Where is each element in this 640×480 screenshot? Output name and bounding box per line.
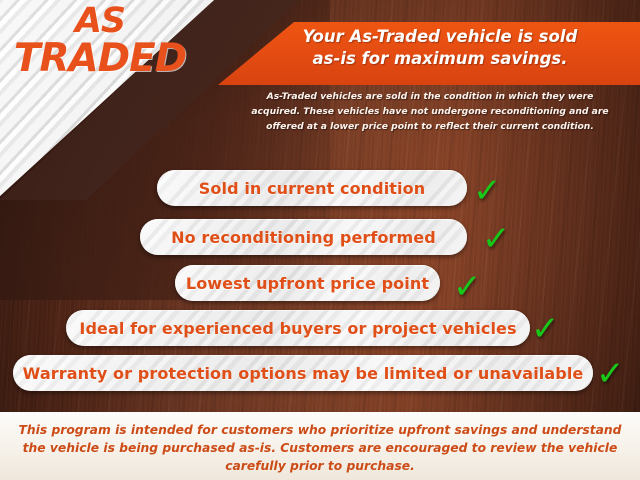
- banner-headline: Your As-Traded vehicle is sold as-is for…: [250, 26, 630, 70]
- footer-disclaimer: This program is intended for customers w…: [18, 421, 622, 476]
- bullet-label-4: Ideal for experienced buyers or project …: [79, 319, 516, 338]
- checkmark-icon-3: ✓: [453, 270, 482, 304]
- bullet-pill-2: No reconditioning performed: [140, 219, 467, 255]
- footer-line-2: the vehicle is being purchased as-is. Cu…: [18, 439, 622, 457]
- bullet-label-2: No reconditioning performed: [171, 228, 436, 247]
- banner-headline-line-2: as-is for maximum savings.: [250, 48, 630, 70]
- checkmark-icon-2: ✓: [482, 222, 511, 256]
- bullet-pill-4: Ideal for experienced buyers or project …: [66, 310, 530, 346]
- checkmark-icon-5: ✓: [596, 357, 625, 391]
- bullet-pill-5: Warranty or protection options may be li…: [13, 355, 593, 391]
- footer-line-1: This program is intended for customers w…: [18, 421, 622, 439]
- bullet-pill-1: Sold in current condition: [157, 170, 467, 206]
- title-line-1: AS: [0, 4, 200, 38]
- page-title: AS TRADED: [0, 4, 200, 79]
- description-line-3: offered at a lower price point to reflec…: [225, 120, 635, 135]
- bullet-label-1: Sold in current condition: [199, 179, 425, 198]
- bullet-label-5: Warranty or protection options may be li…: [23, 364, 584, 383]
- description-paragraph: As-Traded vehicles are sold in the condi…: [225, 90, 635, 135]
- bullet-pill-3: Lowest upfront price point: [175, 265, 440, 301]
- as-traded-infographic-slide: AS TRADED Your As-Traded vehicle is sold…: [0, 0, 640, 480]
- bullet-label-3: Lowest upfront price point: [186, 274, 429, 293]
- footer-line-3: carefully prior to purchase.: [18, 457, 622, 475]
- description-line-1: As-Traded vehicles are sold in the condi…: [225, 90, 635, 105]
- banner-headline-line-1: Your As-Traded vehicle is sold: [250, 26, 630, 48]
- checkmark-icon-1: ✓: [473, 174, 502, 208]
- checkmark-icon-4: ✓: [531, 312, 560, 346]
- title-line-2: TRADED: [0, 40, 200, 78]
- description-line-2: acquired. These vehicles have not underg…: [225, 105, 635, 120]
